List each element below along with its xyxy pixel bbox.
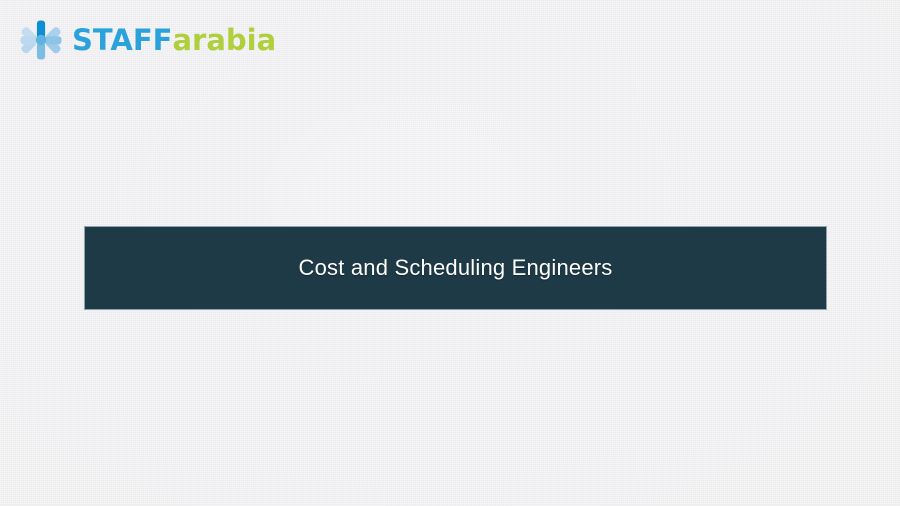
page-title: Cost and Scheduling Engineers [298, 255, 612, 281]
snowflake-asterisk-icon [18, 17, 64, 63]
logo-wordmark: STAFF arabia [72, 26, 276, 55]
logo-wordmark-staff: STAFF [72, 26, 172, 55]
title-banner: Cost and Scheduling Engineers [84, 226, 827, 310]
staffarabia-logo[interactable]: STAFF arabia [18, 17, 276, 63]
logo-wordmark-arabia: arabia [172, 26, 276, 55]
slide-canvas: STAFF arabia Cost and Scheduling Enginee… [0, 0, 900, 506]
